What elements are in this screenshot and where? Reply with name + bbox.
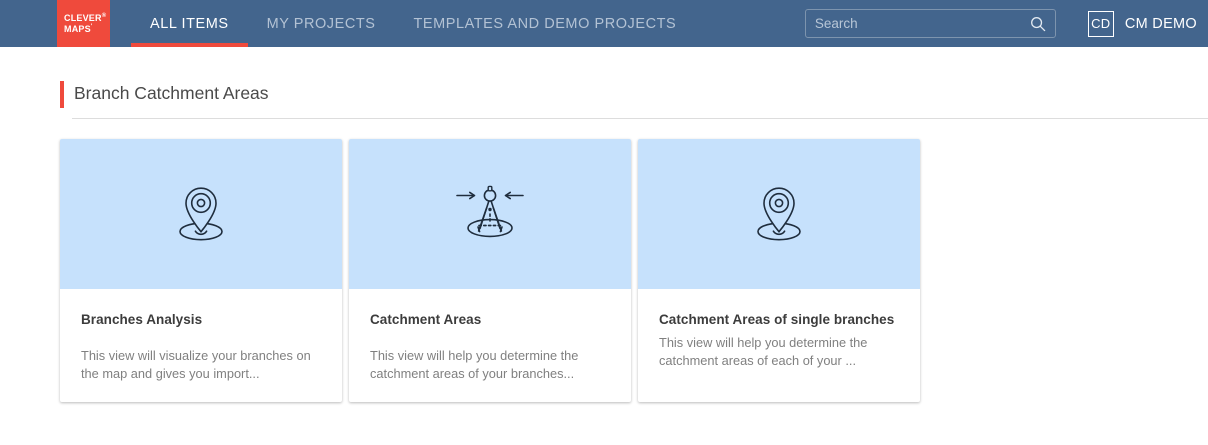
- tab-templates-and-demo-projects[interactable]: TEMPLATES AND DEMO PROJECTS: [394, 0, 695, 47]
- logo-line-2: MAPS': [64, 24, 92, 35]
- navbar-left-spacer: [0, 0, 57, 47]
- top-navigation-bar: CLEVER® MAPS' ALL ITEMS MY PROJECTS TEMP…: [0, 0, 1208, 47]
- navbar-right-group: CD CM DEMO: [805, 0, 1208, 47]
- account-menu[interactable]: CD CM DEMO: [1088, 11, 1197, 37]
- card-catchment-areas[interactable]: Catchment Areas This view will help you …: [349, 139, 631, 402]
- clever-maps-logo[interactable]: CLEVER® MAPS': [57, 0, 110, 47]
- tab-templates-and-demo-projects-label: TEMPLATES AND DEMO PROJECTS: [413, 16, 676, 32]
- compass-divider-icon: [454, 184, 526, 244]
- card-description: This view will help you determine the ca…: [370, 328, 610, 382]
- section-divider: [72, 118, 1208, 119]
- avatar-initials: CD: [1091, 16, 1110, 31]
- tab-all-items[interactable]: ALL ITEMS: [131, 0, 248, 47]
- card-description: This view will help you determine the ca…: [659, 328, 899, 369]
- card-body: Branches Analysis This view will visuali…: [60, 289, 342, 402]
- card-title: Catchment Areas of single branches: [659, 311, 899, 328]
- navbar-tabs: ALL ITEMS MY PROJECTS TEMPLATES AND DEMO…: [131, 0, 695, 47]
- tab-all-items-label: ALL ITEMS: [150, 16, 229, 32]
- card-thumbnail: [349, 139, 631, 289]
- card-thumbnail: [638, 139, 920, 289]
- tab-my-projects-label: MY PROJECTS: [267, 16, 376, 32]
- card-title: Catchment Areas: [370, 311, 610, 328]
- search-box[interactable]: [805, 9, 1056, 38]
- card-body: Catchment Areas of single branches This …: [638, 289, 920, 402]
- card-body: Catchment Areas This view will help you …: [349, 289, 631, 402]
- logo-line-1: CLEVER®: [64, 13, 106, 24]
- card-title: Branches Analysis: [81, 311, 321, 328]
- avatar[interactable]: CD: [1088, 11, 1114, 37]
- card-grid: Branches Analysis This view will visuali…: [60, 119, 1208, 402]
- map-pin-icon: [174, 184, 228, 244]
- search-input[interactable]: [806, 10, 1055, 37]
- main-content: Branch Catchment Areas Branches Analysis…: [0, 47, 1208, 402]
- map-pin-icon: [752, 184, 806, 244]
- section-header: Branch Catchment Areas: [60, 47, 1208, 119]
- section-accent-bar: [60, 81, 64, 108]
- page-title: Branch Catchment Areas: [60, 80, 1208, 107]
- account-name: CM DEMO: [1125, 16, 1197, 32]
- card-thumbnail: [60, 139, 342, 289]
- card-catchment-areas-of-single-branches[interactable]: Catchment Areas of single branches This …: [638, 139, 920, 402]
- tab-my-projects[interactable]: MY PROJECTS: [248, 0, 395, 47]
- card-description: This view will visualize your branches o…: [81, 328, 321, 382]
- card-branches-analysis[interactable]: Branches Analysis This view will visuali…: [60, 139, 342, 402]
